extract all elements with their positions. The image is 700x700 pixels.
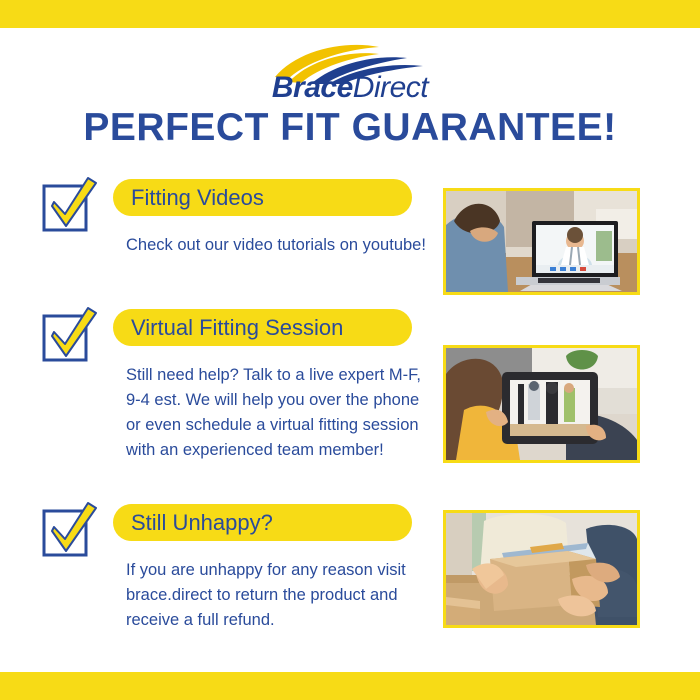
photo-video-call-laptop	[443, 188, 640, 295]
checkbox-checked-icon	[40, 306, 98, 364]
photo-package-return-box-image	[446, 513, 637, 625]
brand-word-brace: Brace	[272, 71, 353, 104]
body-text-fitting-videos: Check out our video tutorials on youtube…	[126, 233, 426, 258]
pill-label: Still Unhappy?	[131, 504, 273, 541]
photo-tablet-virtual-session	[443, 345, 640, 463]
brand-wordmark: BraceDirect	[245, 71, 455, 105]
perfect-fit-guarantee-graphic: BraceDirect PERFECT FIT GUARANTEE! Fitti…	[0, 0, 700, 700]
brand-logo: BraceDirect	[0, 44, 700, 106]
body-text-virtual-fitting-session: Still need help? Talk to a live expert M…	[126, 363, 426, 463]
pill-label: Virtual Fitting Session	[131, 309, 343, 346]
checkbox-checked-icon	[40, 501, 98, 559]
brand-word-direct: Direct	[353, 71, 428, 104]
photo-tablet-virtual-session-image	[446, 348, 637, 460]
page-title: PERFECT FIT GUARANTEE!	[0, 106, 700, 150]
pill-still-unhappy: Still Unhappy?	[113, 504, 412, 541]
photo-package-return-box	[443, 510, 640, 628]
pill-fitting-videos: Fitting Videos	[113, 179, 412, 216]
pill-virtual-fitting-session: Virtual Fitting Session	[113, 309, 412, 346]
photo-video-call-laptop-image	[446, 191, 637, 292]
checkbox-checked-icon	[40, 176, 98, 234]
bottom-yellow-band	[0, 672, 700, 700]
pill-label: Fitting Videos	[131, 179, 264, 216]
top-yellow-band	[0, 0, 700, 28]
body-text-still-unhappy: If you are unhappy for any reason visit …	[126, 558, 426, 633]
